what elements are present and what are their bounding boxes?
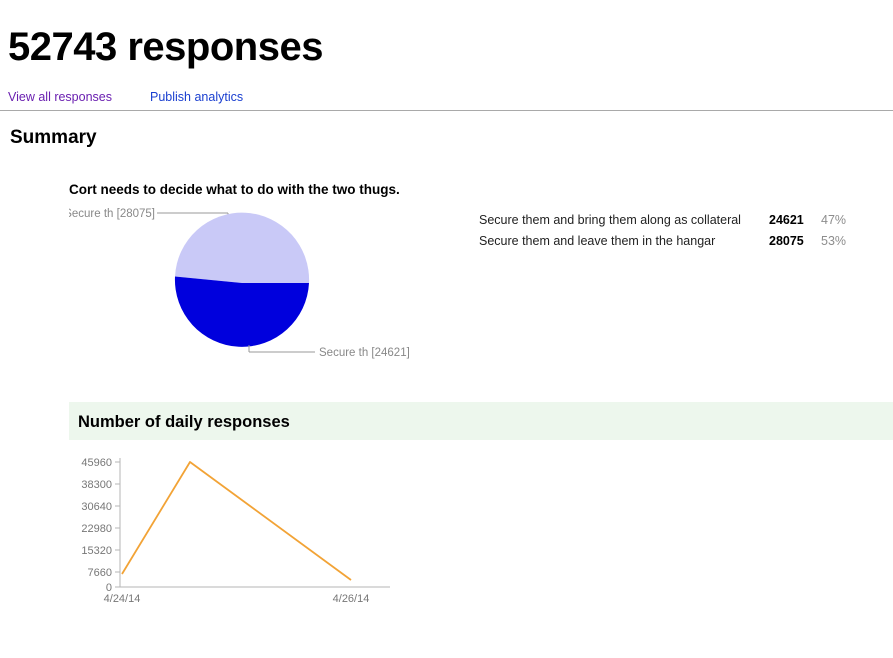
line-series-daily-responses (122, 462, 351, 580)
pie-slice-hangar (175, 213, 309, 283)
pie-leader-line-bottom (249, 345, 315, 352)
answer-label: Secure them and leave them in the hangar (479, 231, 769, 252)
daily-responses-title: Number of daily responses (78, 411, 290, 433)
table-row: Secure them and bring them along as coll… (479, 210, 859, 231)
page-title: 52743 responses (8, 24, 323, 70)
pie-chart-svg: Secure th [28075] Secure th [24621] (69, 205, 469, 370)
x-tick-label: 4/24/14 (104, 593, 141, 605)
y-tick-label: 45960 (81, 457, 112, 469)
answer-count: 28075 (769, 231, 821, 252)
view-all-responses-link[interactable]: View all responses (8, 89, 112, 105)
publish-analytics-link[interactable]: Publish analytics (150, 89, 243, 105)
line-chart-svg: 45960 38300 30640 22980 15320 7660 0 4/2… (60, 450, 420, 610)
y-tick-label: 7660 (88, 567, 112, 579)
answer-count: 24621 (769, 210, 821, 231)
nav-links: View all responsesPublish analytics (8, 89, 243, 105)
pie-slice-collateral (175, 277, 309, 347)
answers-table: Secure them and bring them along as coll… (479, 210, 859, 252)
y-tick-label: 15320 (81, 545, 112, 557)
answer-label: Secure them and bring them along as coll… (479, 210, 769, 231)
daily-responses-chart: 45960 38300 30640 22980 15320 7660 0 4/2… (60, 450, 420, 610)
pie-chart: Secure th [28075] Secure th [24621] (69, 205, 469, 370)
answer-percent: 47% (821, 210, 846, 231)
y-tick-label: 38300 (81, 479, 112, 491)
pie-label-top: Secure th [28075] (69, 208, 155, 220)
answer-percent: 53% (821, 231, 846, 252)
summary-heading: Summary (10, 126, 97, 150)
header-divider (0, 110, 893, 111)
table-row: Secure them and leave them in the hangar… (479, 231, 859, 252)
y-axis-ticks: 45960 38300 30640 22980 15320 7660 0 (81, 457, 112, 594)
x-tick-label: 4/26/14 (333, 593, 370, 605)
y-tick-label: 22980 (81, 523, 112, 535)
question-title: Cort needs to decide what to do with the… (69, 181, 400, 199)
y-tick-label: 30640 (81, 501, 112, 513)
y-axis-tick-marks (115, 462, 120, 587)
pie-label-bottom: Secure th [24621] (319, 347, 410, 359)
